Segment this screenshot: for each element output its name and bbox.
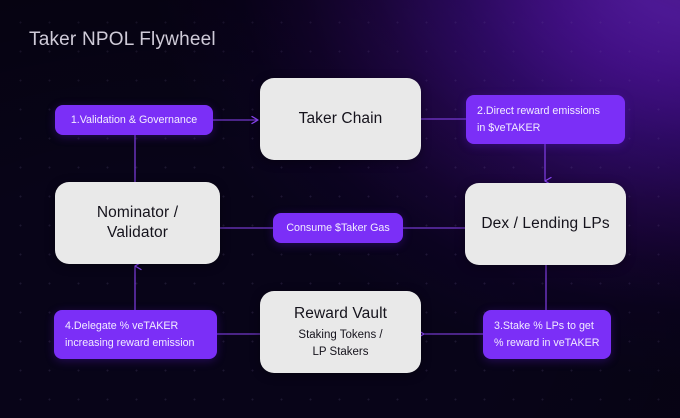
node-title: Dex / Lending LPs <box>481 214 609 234</box>
label-line-2: % reward in veTAKER <box>494 335 600 352</box>
node-title: Reward Vault <box>294 304 387 324</box>
node-reward-vault[interactable]: Reward Vault Staking Tokens / LP Stakers <box>260 291 421 373</box>
label-step-2[interactable]: 2.Direct reward emissions in $veTAKER <box>466 95 625 144</box>
label-line-1: 4.Delegate % veTAKER <box>65 318 206 335</box>
label-step-4[interactable]: 4.Delegate % veTAKER increasing reward e… <box>54 310 217 359</box>
label-line-1: Consume $Taker Gas <box>286 220 389 237</box>
node-subtitle-line-1: Staking Tokens / <box>298 327 382 343</box>
node-title: Taker Chain <box>299 109 383 129</box>
label-line-2: increasing reward emission <box>65 335 206 352</box>
node-title-line-1: Nominator / <box>97 203 178 223</box>
node-nominator-validator[interactable]: Nominator / Validator <box>55 182 220 264</box>
label-step-3[interactable]: 3.Stake % LPs to get % reward in veTAKER <box>483 310 611 359</box>
label-line-2: in $veTAKER <box>477 120 614 137</box>
label-line-1: 3.Stake % LPs to get <box>494 318 600 335</box>
diagram-canvas: Taker NPOL Flywheel <box>0 0 680 418</box>
label-line-1: 1.Validation & Governance <box>71 112 197 129</box>
node-title-line-2: Validator <box>107 223 168 243</box>
node-subtitle-line-2: LP Stakers <box>312 344 368 360</box>
label-consume-gas[interactable]: Consume $Taker Gas <box>273 213 403 243</box>
node-taker-chain[interactable]: Taker Chain <box>260 78 421 160</box>
node-dex-lending-lps[interactable]: Dex / Lending LPs <box>465 183 626 265</box>
label-step-1[interactable]: 1.Validation & Governance <box>55 105 213 135</box>
label-line-1: 2.Direct reward emissions <box>477 103 614 120</box>
